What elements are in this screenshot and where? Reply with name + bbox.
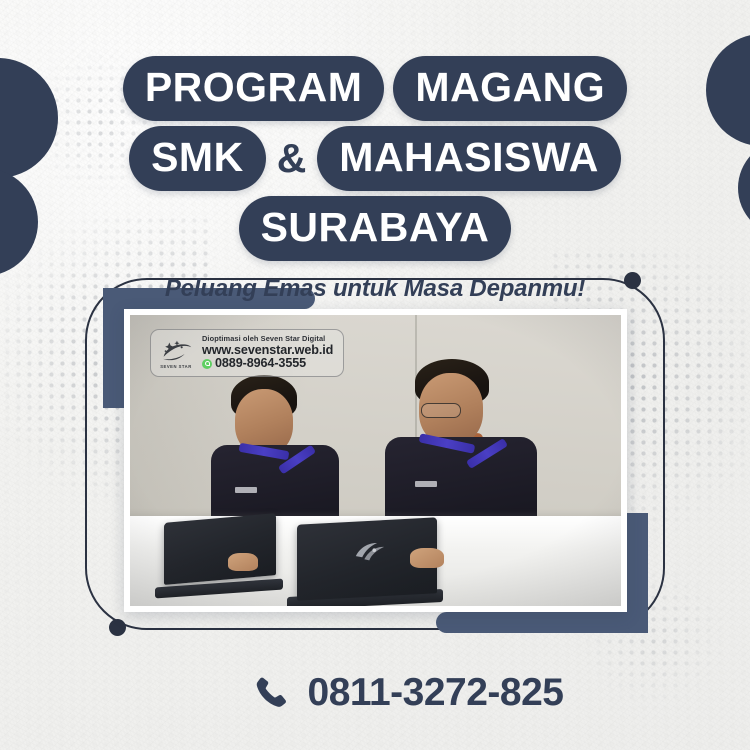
frame-bracket-bottom-right-horizontal: [436, 612, 648, 633]
headline-pill-surabaya: SURABAYA: [239, 196, 512, 261]
photo-students-with-laptops: SEVEN STAR Dioptimasi oleh Seven Star Di…: [130, 315, 621, 606]
photo-hand-left: [228, 553, 258, 571]
headline-pill-program: PROGRAM: [123, 56, 385, 121]
tagline: Peluang Emas untuk Masa Depanmu!: [0, 275, 750, 303]
photo-hand-right: [410, 548, 444, 568]
headline-pill-mahasiswa: MAHASISWA: [317, 126, 621, 191]
seven-star-logo-icon: SEVEN STAR: [157, 338, 195, 368]
promotional-poster: PROGRAM MAGANG SMK & MAHASISWA SURABAYA …: [0, 0, 750, 750]
footer-contact: 0811-3272-825: [0, 673, 750, 712]
phone-icon: [253, 674, 291, 712]
whatsapp-icon: [202, 359, 212, 369]
person-right-glasses: [421, 403, 461, 418]
headline-ampersand: &: [275, 138, 309, 179]
frame-accent-dot-bottom-left: [109, 619, 126, 636]
photo-frame: SEVEN STAR Dioptimasi oleh Seven Star Di…: [103, 288, 648, 633]
watermark-phone-row: 0889-8964-3555: [202, 357, 333, 370]
headline-line-2: SMK & MAHASISWA: [0, 126, 750, 191]
headline-line-1: PROGRAM MAGANG: [0, 56, 750, 121]
headline-line-3: SURABAYA: [0, 196, 750, 261]
footer-phone-number: 0811-3272-825: [308, 673, 564, 712]
watermark-text-block: Dioptimasi oleh Seven Star Digital www.s…: [202, 335, 333, 371]
frame-bracket-bottom-right-vertical: [627, 513, 648, 633]
watermark-badge: SEVEN STAR Dioptimasi oleh Seven Star Di…: [150, 329, 344, 377]
rog-logo-icon: [353, 540, 387, 564]
person-right-name-badge: [415, 481, 437, 487]
watermark-credit-line: Dioptimasi oleh Seven Star Digital: [202, 335, 333, 343]
seven-star-logo-name: SEVEN STAR: [157, 364, 195, 369]
headline-pill-smk: SMK: [129, 126, 266, 191]
headline-pill-magang: MAGANG: [393, 56, 627, 121]
watermark-phone-number: 0889-8964-3555: [215, 357, 306, 370]
person-left-name-badge: [235, 487, 257, 493]
photo-laptop-left: [164, 513, 276, 585]
photo-plate: SEVEN STAR Dioptimasi oleh Seven Star Di…: [124, 309, 627, 612]
headline-block: PROGRAM MAGANG SMK & MAHASISWA SURABAYA …: [0, 56, 750, 303]
watermark-website: www.sevenstar.web.id: [202, 344, 333, 357]
